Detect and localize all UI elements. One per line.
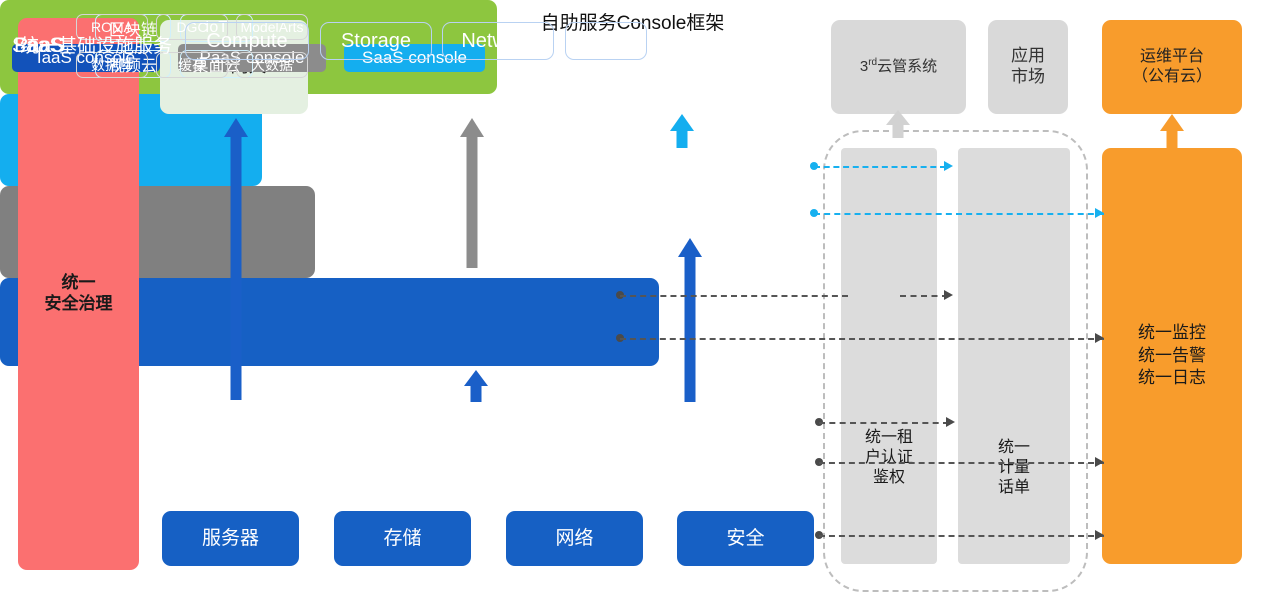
dashed-saas-to-ops <box>814 213 1104 215</box>
arrow-into-ops-platform <box>1158 114 1186 148</box>
dashed-paas-to-meter <box>620 338 1104 340</box>
security-line-1: 统一 <box>45 273 113 294</box>
dashed-paas-to-auth <box>620 295 848 297</box>
metering-column-label: 统一 计量 话单 <box>958 438 1070 498</box>
unified-metering-billing-column[interactable]: 统一 计量 话单 <box>958 148 1070 564</box>
architecture-diagram: 统一 安全治理 API网关 自助服务Console框架 IaaS console… <box>0 0 1265 605</box>
infra-service-compute[interactable]: Compute <box>185 22 309 60</box>
security-line-2: 安全治理 <box>45 294 113 315</box>
ops-panel-line-2: 统一告警 <box>1138 345 1206 368</box>
ops-panel-line-1: 统一监控 <box>1138 322 1206 345</box>
auth-line-2: 户认证 <box>841 448 937 468</box>
third-party-cloud-management-box[interactable]: 3rd云管系统 <box>831 20 966 114</box>
infra-service-2-label: Network <box>461 30 534 53</box>
unified-monitoring-panel[interactable]: 统一监控 统一告警 统一日志 <box>1102 148 1242 564</box>
infra-service-storage[interactable]: Storage <box>320 22 432 60</box>
hardware-server-box[interactable]: 服务器 <box>162 511 299 566</box>
arrow-saas-to-console <box>668 114 696 148</box>
meter-line-3: 话单 <box>958 478 1070 498</box>
dashed-saas-to-auth <box>814 166 946 168</box>
unified-security-governance-panel[interactable]: 统一 安全治理 <box>18 18 139 570</box>
ops-top-line-2: （公有云） <box>1132 67 1212 87</box>
ops-platform-public-cloud-box[interactable]: 运维平台 （公有云） <box>1102 20 1242 114</box>
ops-top-line-1: 运维平台 <box>1132 47 1212 67</box>
arrow-infra-to-api-gateway <box>222 118 250 400</box>
meter-line-1: 统一 <box>958 438 1070 458</box>
ops-panel-line-3: 统一日志 <box>1138 367 1206 390</box>
hardware-network-box[interactable]: 网络 <box>506 511 643 566</box>
unified-tenant-auth-column[interactable]: 统一租 户认证 鉴权 <box>841 148 937 564</box>
hardware-1-label: 存储 <box>383 527 421 550</box>
app-market-line-2: 市场 <box>1011 67 1045 88</box>
meter-line-2: 计量 <box>958 458 1070 478</box>
auth-column-label: 统一租 户认证 鉴权 <box>841 428 937 488</box>
app-market-box[interactable]: 应用 市场 <box>988 20 1068 114</box>
arrowhead-hardware-to-ops <box>1095 530 1104 540</box>
arrowhead-paas-to-ops <box>1095 333 1104 343</box>
dashed-hardware-to-ops <box>819 535 1104 537</box>
arrowhead-saas-to-auth <box>944 161 953 171</box>
arrowhead-infra-to-ops <box>1095 457 1104 467</box>
arrow-infra-to-saas <box>676 238 704 402</box>
arrow-infra-to-paas <box>462 370 490 402</box>
arrowhead-auth-to-meter <box>944 290 953 300</box>
dashed-infra-to-ops <box>819 462 1104 464</box>
dashed-infra-to-auth <box>819 422 949 424</box>
hardware-3-label: 安全 <box>726 527 764 550</box>
infra-service-network[interactable]: Network <box>442 22 554 60</box>
auth-line-3: 鉴权 <box>841 468 937 488</box>
infra-service-0-label: Compute <box>206 30 287 53</box>
third-party-cloud-label: 3rd云管系统 <box>860 57 937 76</box>
arrow-paas-to-console <box>458 118 486 268</box>
hardware-2-label: 网络 <box>555 527 593 550</box>
hardware-security-box[interactable]: 安全 <box>677 511 814 566</box>
hardware-0-label: 服务器 <box>202 527 259 550</box>
dashed-auth-to-meter <box>900 295 948 297</box>
infra-service-1-label: Storage <box>341 30 411 53</box>
infrastructure-label: 统一基础设施服务 <box>20 0 172 88</box>
auth-line-1: 统一租 <box>841 428 937 448</box>
arrowhead-infra-to-auth <box>946 417 955 427</box>
infra-service-3-label: CCE <box>585 30 627 53</box>
app-market-line-1: 应用 <box>1011 46 1045 67</box>
hardware-storage-box[interactable]: 存储 <box>334 511 471 566</box>
arrowhead-saas-to-ops <box>1095 208 1104 218</box>
infra-service-cce[interactable]: CCE <box>565 22 647 60</box>
arrow-into-third-party-cloud <box>884 110 912 138</box>
